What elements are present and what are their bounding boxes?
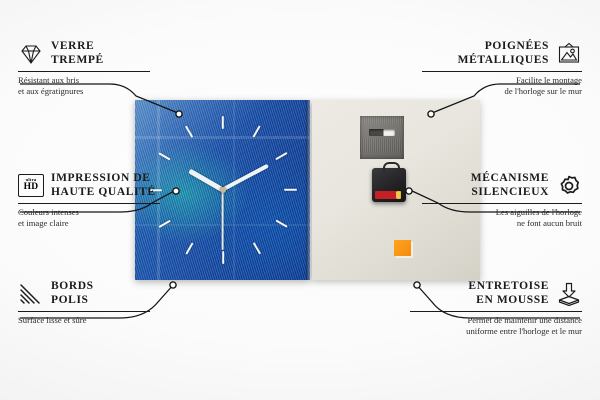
- infographic-canvas: VERRE TREMPÉ Résistant aux bris et aux é…: [0, 0, 600, 400]
- ultra-hd-badge-icon: ultra HD: [18, 174, 44, 197]
- connector-dot-verre-trempe: [176, 111, 182, 117]
- feature-description: Résistant aux bris et aux égratignures: [18, 75, 150, 96]
- connector-dot-poignees: [428, 111, 434, 117]
- feature-entretoise-en-mousse: ENTRETOISE EN MOUSSE Permet de maintenir…: [410, 280, 582, 336]
- divider: [18, 71, 150, 72]
- gear-icon: [556, 174, 582, 198]
- feature-title: ENTRETOISE EN MOUSSE: [468, 280, 549, 307]
- divider: [422, 203, 582, 204]
- feature-verre-trempe: VERRE TREMPÉ Résistant aux bris et aux é…: [18, 40, 150, 96]
- feature-title: BORDS POLIS: [51, 280, 94, 307]
- divider: [18, 311, 150, 312]
- divider: [422, 71, 582, 72]
- polished-edge-icon: [18, 282, 44, 306]
- feature-description: Surface lisse et sûre: [18, 315, 150, 325]
- connector-dot-mecanisme: [406, 188, 412, 194]
- feature-title: POIGNÉES MÉTALLIQUES: [458, 40, 549, 67]
- picture-hanger-icon: [556, 42, 582, 66]
- connector-dot-impression: [173, 188, 179, 194]
- feature-title: VERRE TREMPÉ: [51, 40, 104, 67]
- divider: [18, 203, 160, 204]
- feature-description: Facilite le montage de l'horloge sur le …: [422, 75, 582, 96]
- feature-impression-haute-qualite: ultra HD IMPRESSION DE HAUTE QUALITÉ Cou…: [18, 172, 160, 228]
- feature-description: Les aiguilles de l'horloge ne font aucun…: [422, 207, 582, 228]
- connector-dot-bords-polis: [170, 282, 176, 288]
- feature-title: MÉCANISME SILENCIEUX: [471, 172, 549, 199]
- feature-bords-polis: BORDS POLIS Surface lisse et sûre: [18, 280, 150, 326]
- feature-title: IMPRESSION DE HAUTE QUALITÉ: [51, 172, 156, 199]
- feature-poignees-metalliques: POIGNÉES MÉTALLIQUES Facilite le montage…: [422, 40, 582, 96]
- diamond-icon: [18, 42, 44, 66]
- feature-description: Permet de maintenir une distance uniform…: [410, 315, 582, 336]
- feature-mecanisme-silencieux: MÉCANISME SILENCIEUX Les aiguilles de l'…: [422, 172, 582, 228]
- divider: [410, 311, 582, 312]
- feature-description: Couleurs intenses et image claire: [18, 207, 160, 228]
- foam-spacer-arrow-icon: [556, 282, 582, 306]
